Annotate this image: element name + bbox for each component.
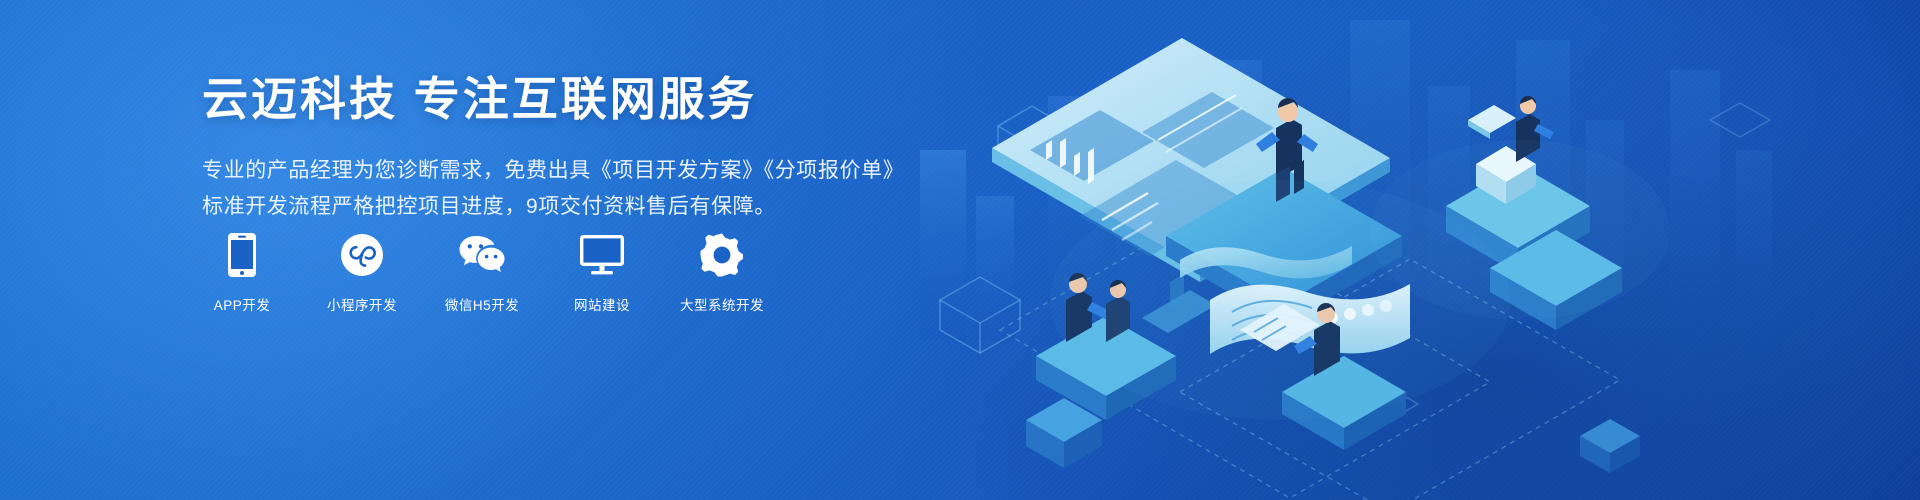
service-label: 小程序开发 bbox=[327, 294, 397, 314]
service-item-website[interactable]: 网站建设 bbox=[560, 232, 644, 314]
wechat-icon bbox=[458, 232, 506, 278]
isometric-illustration bbox=[880, 0, 1920, 500]
hero-banner: 云迈科技 专注互联网服务 专业的产品经理为您诊断需求，免费出具《项目开发方案》《… bbox=[0, 0, 1920, 500]
mini-program-icon bbox=[341, 232, 383, 278]
service-item-wechat-h5[interactable]: 微信H5开发 bbox=[440, 232, 524, 314]
service-item-mini-program[interactable]: 小程序开发 bbox=[320, 232, 404, 314]
service-item-large-system[interactable]: 大型系统开发 bbox=[680, 232, 764, 314]
banner-copy: 云迈科技 专注互联网服务 专业的产品经理为您诊断需求，免费出具《项目开发方案》《… bbox=[202, 72, 922, 225]
tablet-device bbox=[1468, 105, 1516, 139]
mobile-phone-icon bbox=[228, 232, 256, 278]
banner-subtitle: 专业的产品经理为您诊断需求，免费出具《项目开发方案》《分项报价单》 标准开发流程… bbox=[202, 153, 922, 225]
gear-icon bbox=[700, 232, 744, 278]
banner-subtitle-line-2: 标准开发流程严格把控项目进度，9项交付资料售后有保障。 bbox=[202, 189, 922, 225]
service-list: APP开发 小程序开发 bbox=[200, 232, 764, 314]
monitor-icon bbox=[580, 232, 624, 278]
banner-headline: 云迈科技 专注互联网服务 bbox=[202, 72, 922, 127]
service-label: APP开发 bbox=[214, 294, 271, 314]
service-label: 微信H5开发 bbox=[445, 294, 519, 314]
service-label: 网站建设 bbox=[574, 294, 630, 314]
banner-subtitle-line-1: 专业的产品经理为您诊断需求，免费出具《项目开发方案》《分项报价单》 bbox=[202, 153, 922, 189]
service-label: 大型系统开发 bbox=[680, 294, 764, 314]
service-item-app[interactable]: APP开发 bbox=[200, 232, 284, 314]
